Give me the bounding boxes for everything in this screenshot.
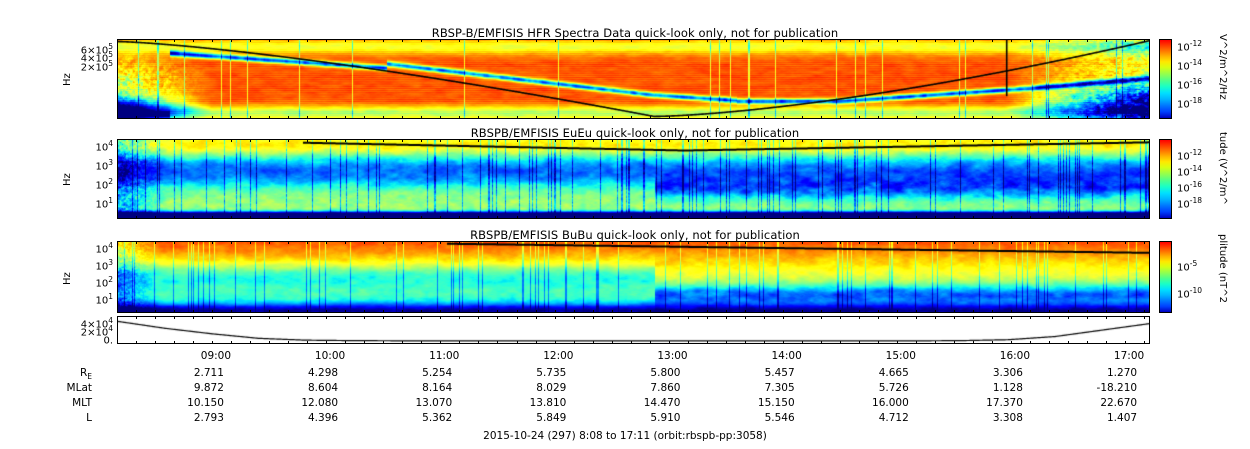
axis-tick — [117, 310, 118, 313]
axis-tick — [916, 139, 917, 142]
axis-tick — [688, 39, 689, 42]
axis-tick — [326, 116, 327, 119]
axis-tick — [574, 316, 575, 319]
axis-tick — [669, 139, 670, 142]
spectrogram-hfr — [117, 39, 1150, 119]
axis-tick — [536, 241, 537, 244]
axis-tick — [916, 39, 917, 42]
axis-tick — [1049, 116, 1050, 119]
axis-tick — [497, 216, 498, 219]
axis-tick — [117, 216, 118, 219]
axis-tick — [707, 310, 708, 313]
axis-tick — [954, 310, 955, 313]
axis-tick — [707, 216, 708, 219]
axis-tick — [536, 139, 537, 142]
axis-tick — [612, 241, 613, 244]
ephemeris-value: 5.800 — [612, 367, 680, 379]
axis-tick — [1144, 341, 1145, 344]
axis-tick — [992, 341, 993, 344]
axis-tick — [612, 310, 613, 313]
ephemeris-value: 4.665 — [841, 367, 909, 379]
axis-tick — [764, 216, 765, 219]
axis-tick — [973, 116, 974, 119]
axis-tick — [916, 316, 917, 319]
ephemeris-value: 7.860 — [612, 382, 680, 394]
y-tick-eueu-2: 102 — [65, 177, 113, 191]
axis-tick — [174, 139, 175, 142]
colorbar-eueu-axis-label: tude (V^2/m^ — [1217, 132, 1228, 205]
axis-tick — [973, 316, 974, 319]
axis-tick — [497, 116, 498, 119]
axis-tick — [117, 316, 118, 319]
axis-tick — [478, 341, 479, 344]
axis-tick — [859, 116, 860, 119]
axis-tick — [859, 241, 860, 244]
axis-tick — [1049, 310, 1050, 313]
axis-tick — [517, 216, 518, 219]
axis-tick — [726, 139, 727, 142]
y-tick-eueu-1: 103 — [65, 158, 113, 172]
axis-tick — [764, 316, 765, 319]
axis-tick — [916, 116, 917, 119]
ephemeris-row-label-mlat: MLat — [30, 382, 92, 394]
ephemeris-value: 13.070 — [384, 397, 452, 409]
axis-tick — [364, 341, 365, 344]
axis-tick — [421, 139, 422, 142]
axis-tick — [1144, 316, 1145, 319]
axis-tick — [745, 341, 746, 344]
axis-tick — [250, 310, 251, 313]
axis-tick — [631, 310, 632, 313]
axis-tick — [840, 139, 841, 142]
time-tick-1600: 16:00 — [989, 350, 1041, 362]
axis-tick — [459, 316, 460, 319]
time-tick-1500: 15:00 — [875, 350, 927, 362]
axis-tick — [821, 116, 822, 119]
altitude-panel — [117, 316, 1150, 344]
axis-tick — [1049, 39, 1050, 42]
axis-tick — [1106, 116, 1107, 119]
axis-tick — [897, 341, 898, 344]
colorbar-eueu-tick-0: 10-12 — [1177, 148, 1202, 162]
axis-tick — [402, 216, 403, 219]
axis-tick — [117, 341, 118, 344]
axis-tick — [421, 241, 422, 244]
axis-tick — [669, 116, 670, 119]
axis-tick — [250, 216, 251, 219]
axis-tick — [916, 310, 917, 313]
ephemeris-value: 1.270 — [1069, 367, 1137, 379]
y-tick-bubu-0: 104 — [65, 241, 113, 255]
axis-tick — [631, 216, 632, 219]
axis-tick — [1087, 241, 1088, 244]
axis-tick — [1087, 139, 1088, 142]
axis-tick — [916, 241, 917, 244]
axis-tick — [440, 310, 441, 313]
axis-tick — [1087, 310, 1088, 313]
axis-tick — [478, 316, 479, 319]
axis-tick — [631, 241, 632, 244]
axis-tick — [136, 241, 137, 244]
ephemeris-value: 5.726 — [841, 382, 909, 394]
axis-tick — [935, 139, 936, 142]
axis-tick — [307, 241, 308, 244]
axis-tick — [174, 310, 175, 313]
axis-tick — [345, 39, 346, 42]
axis-tick — [916, 216, 917, 219]
axis-tick — [574, 139, 575, 142]
axis-tick — [345, 241, 346, 244]
axis-tick — [973, 39, 974, 42]
panel-title-hfr: RBSP-B/EMFISIS HFR Spectra Data quick-lo… — [120, 26, 1150, 40]
axis-tick — [840, 341, 841, 344]
axis-tick — [935, 116, 936, 119]
ephemeris-value: 2.793 — [156, 412, 224, 424]
axis-tick — [878, 216, 879, 219]
y-tick-eueu-0: 104 — [65, 139, 113, 153]
axis-tick — [155, 310, 156, 313]
axis-tick — [421, 316, 422, 319]
axis-tick — [231, 341, 232, 344]
axis-tick — [1125, 241, 1126, 244]
axis-tick — [459, 310, 460, 313]
axis-tick — [307, 310, 308, 313]
axis-tick — [383, 39, 384, 42]
axis-tick — [802, 316, 803, 319]
axis-tick — [840, 216, 841, 219]
ephemeris-value: 4.396 — [270, 412, 338, 424]
axis-tick — [1011, 39, 1012, 42]
axis-tick — [954, 139, 955, 142]
axis-tick — [555, 341, 556, 344]
axis-tick — [1068, 241, 1069, 244]
axis-tick — [726, 116, 727, 119]
axis-tick — [840, 316, 841, 319]
axis-tick — [574, 116, 575, 119]
axis-tick — [212, 39, 213, 42]
axis-tick — [802, 216, 803, 219]
axis-tick — [402, 39, 403, 42]
colorbar-eueu-tick-3: 10-18 — [1177, 196, 1202, 210]
axis-tick — [250, 241, 251, 244]
axis-tick — [231, 39, 232, 42]
axis-tick — [821, 241, 822, 244]
colorbar-hfr — [1159, 39, 1172, 119]
axis-tick — [745, 316, 746, 319]
ephemeris-value: 3.308 — [955, 412, 1023, 424]
ephemeris-value: 17.370 — [955, 397, 1023, 409]
ephemeris-value: 1.407 — [1069, 412, 1137, 424]
ephemeris-value: 5.457 — [727, 367, 795, 379]
ephemeris-value: 12.080 — [270, 397, 338, 409]
axis-tick — [478, 116, 479, 119]
axis-tick — [688, 310, 689, 313]
axis-tick — [688, 341, 689, 344]
axis-tick — [992, 310, 993, 313]
ephemeris-value: 5.362 — [384, 412, 452, 424]
axis-tick — [364, 316, 365, 319]
axis-tick — [555, 116, 556, 119]
ephemeris-value: 4.712 — [841, 412, 909, 424]
axis-tick — [764, 310, 765, 313]
axis-tick — [650, 116, 651, 119]
axis-tick — [1068, 316, 1069, 319]
axis-tick — [650, 39, 651, 42]
axis-tick — [1125, 341, 1126, 344]
ephemeris-value: 5.254 — [384, 367, 452, 379]
axis-tick — [383, 216, 384, 219]
panel-title-bubu: RBSPB/EMFISIS BuBu quick-look only, not … — [120, 228, 1150, 242]
axis-tick — [402, 341, 403, 344]
axis-tick — [992, 116, 993, 119]
axis-tick — [593, 139, 594, 142]
axis-tick — [574, 310, 575, 313]
axis-tick — [231, 139, 232, 142]
axis-tick — [517, 341, 518, 344]
axis-tick — [1106, 310, 1107, 313]
spectrogram-bubu — [117, 241, 1150, 313]
axis-tick — [954, 216, 955, 219]
axis-tick — [612, 139, 613, 142]
axis-tick — [1144, 39, 1145, 42]
axis-tick — [307, 341, 308, 344]
axis-tick — [821, 139, 822, 142]
axis-tick — [707, 316, 708, 319]
axis-tick — [612, 39, 613, 42]
axis-tick — [897, 316, 898, 319]
axis-tick — [288, 216, 289, 219]
colorbar-bubu-tick-1: 10-10 — [1177, 286, 1202, 300]
axis-tick — [897, 116, 898, 119]
axis-tick — [593, 341, 594, 344]
axis-tick — [155, 241, 156, 244]
axis-tick — [517, 139, 518, 142]
axis-tick — [212, 310, 213, 313]
axis-tick — [269, 116, 270, 119]
time-tick-1000: 10:00 — [304, 350, 356, 362]
axis-tick — [478, 241, 479, 244]
axis-tick — [1030, 341, 1031, 344]
axis-tick — [1106, 341, 1107, 344]
axis-tick — [574, 216, 575, 219]
axis-tick — [859, 39, 860, 42]
axis-tick — [497, 39, 498, 42]
axis-tick — [250, 341, 251, 344]
axis-tick — [745, 139, 746, 142]
axis-tick — [1011, 310, 1012, 313]
axis-tick — [1144, 310, 1145, 313]
ephemeris-value: 14.470 — [612, 397, 680, 409]
axis-tick — [707, 116, 708, 119]
axis-tick — [1011, 241, 1012, 244]
axis-tick — [459, 39, 460, 42]
axis-tick — [954, 39, 955, 42]
axis-tick — [745, 241, 746, 244]
axis-tick — [212, 216, 213, 219]
axis-tick — [669, 39, 670, 42]
axis-tick — [1030, 139, 1031, 142]
axis-tick — [555, 139, 556, 142]
axis-tick — [1049, 216, 1050, 219]
axis-tick — [802, 341, 803, 344]
axis-tick — [1030, 316, 1031, 319]
axis-tick — [155, 139, 156, 142]
axis-tick — [250, 39, 251, 42]
axis-tick — [745, 310, 746, 313]
axis-tick — [897, 310, 898, 313]
axis-tick — [478, 216, 479, 219]
ephemeris-value: 5.735 — [498, 367, 566, 379]
axis-tick — [497, 316, 498, 319]
axis-tick — [440, 39, 441, 42]
axis-tick — [536, 341, 537, 344]
axis-tick — [631, 39, 632, 42]
axis-tick — [764, 139, 765, 142]
axis-tick — [231, 310, 232, 313]
figure-footer: 2015-10-24 (297) 8:08 to 17:11 (orbit:rb… — [0, 430, 1250, 442]
panel-title-eueu: RBSPB/EMFISIS EuEu quick-look only, not … — [120, 126, 1150, 140]
axis-tick — [517, 39, 518, 42]
axis-tick — [840, 241, 841, 244]
axis-tick — [935, 216, 936, 219]
axis-tick — [497, 310, 498, 313]
axis-tick — [174, 116, 175, 119]
axis-tick — [1125, 39, 1126, 42]
axis-tick — [821, 310, 822, 313]
axis-tick — [669, 216, 670, 219]
axis-tick — [878, 116, 879, 119]
axis-tick — [764, 241, 765, 244]
axis-tick — [231, 116, 232, 119]
axis-tick — [878, 316, 879, 319]
axis-tick — [459, 116, 460, 119]
axis-tick — [174, 241, 175, 244]
axis-tick — [631, 316, 632, 319]
axis-tick — [650, 216, 651, 219]
axis-tick — [1030, 116, 1031, 119]
ephemeris-value: 22.670 — [1069, 397, 1137, 409]
axis-tick — [497, 341, 498, 344]
ephemeris-value: 8.029 — [498, 382, 566, 394]
axis-tick — [555, 316, 556, 319]
ephemeris-value: 5.546 — [727, 412, 795, 424]
axis-tick — [1106, 139, 1107, 142]
axis-tick — [992, 139, 993, 142]
axis-tick — [1106, 316, 1107, 319]
axis-tick — [478, 139, 479, 142]
axis-tick — [307, 116, 308, 119]
axis-tick — [840, 310, 841, 313]
axis-tick — [802, 116, 803, 119]
axis-tick — [193, 341, 194, 344]
axis-tick — [897, 39, 898, 42]
axis-tick — [212, 116, 213, 119]
axis-tick — [802, 39, 803, 42]
time-tick-1300: 13:00 — [646, 350, 698, 362]
axis-tick — [688, 116, 689, 119]
axis-tick — [688, 316, 689, 319]
colorbar-eueu-tick-2: 10-16 — [1177, 180, 1202, 194]
axis-tick — [536, 116, 537, 119]
axis-tick — [364, 216, 365, 219]
axis-tick — [364, 241, 365, 244]
axis-tick — [117, 39, 118, 42]
axis-tick — [326, 316, 327, 319]
axis-tick — [212, 316, 213, 319]
time-tick-1100: 11:00 — [418, 350, 470, 362]
axis-tick — [707, 39, 708, 42]
axis-tick — [117, 139, 118, 142]
axis-tick — [593, 116, 594, 119]
axis-tick — [421, 310, 422, 313]
axis-tick — [212, 241, 213, 244]
axis-tick — [517, 316, 518, 319]
axis-tick — [364, 116, 365, 119]
axis-tick — [155, 316, 156, 319]
axis-tick — [764, 39, 765, 42]
axis-tick — [878, 241, 879, 244]
axis-tick — [1068, 341, 1069, 344]
axis-tick — [1011, 216, 1012, 219]
axis-tick — [745, 216, 746, 219]
axis-tick — [250, 116, 251, 119]
axis-tick — [288, 116, 289, 119]
ephemeris-value: 13.810 — [498, 397, 566, 409]
axis-tick — [688, 241, 689, 244]
axis-tick — [954, 116, 955, 119]
axis-tick — [250, 139, 251, 142]
axis-tick — [593, 316, 594, 319]
axis-tick — [193, 310, 194, 313]
axis-tick — [935, 341, 936, 344]
axis-tick — [783, 310, 784, 313]
axis-tick — [383, 139, 384, 142]
axis-tick — [307, 216, 308, 219]
axis-tick — [478, 39, 479, 42]
axis-tick — [1049, 139, 1050, 142]
axis-tick — [897, 216, 898, 219]
axis-tick — [802, 139, 803, 142]
axis-tick — [631, 139, 632, 142]
axis-tick — [650, 241, 651, 244]
axis-tick — [1030, 241, 1031, 244]
axis-tick — [1087, 39, 1088, 42]
ephemeris-value: 5.910 — [612, 412, 680, 424]
axis-tick — [650, 139, 651, 142]
axis-tick — [345, 139, 346, 142]
axis-tick — [383, 310, 384, 313]
axis-tick — [783, 341, 784, 344]
time-tick-1200: 12:00 — [532, 350, 584, 362]
axis-tick — [193, 216, 194, 219]
axis-tick — [783, 316, 784, 319]
axis-tick — [859, 341, 860, 344]
axis-tick — [345, 310, 346, 313]
axis-tick — [1068, 116, 1069, 119]
axis-tick — [155, 116, 156, 119]
axis-tick — [745, 116, 746, 119]
axis-tick — [612, 216, 613, 219]
axis-tick — [459, 341, 460, 344]
ephemeris-value: 2.711 — [156, 367, 224, 379]
axis-tick — [992, 39, 993, 42]
axis-tick — [269, 316, 270, 319]
axis-tick — [802, 310, 803, 313]
axis-tick — [440, 241, 441, 244]
ephemeris-value: 15.150 — [727, 397, 795, 409]
axis-tick — [726, 310, 727, 313]
axis-tick — [383, 116, 384, 119]
